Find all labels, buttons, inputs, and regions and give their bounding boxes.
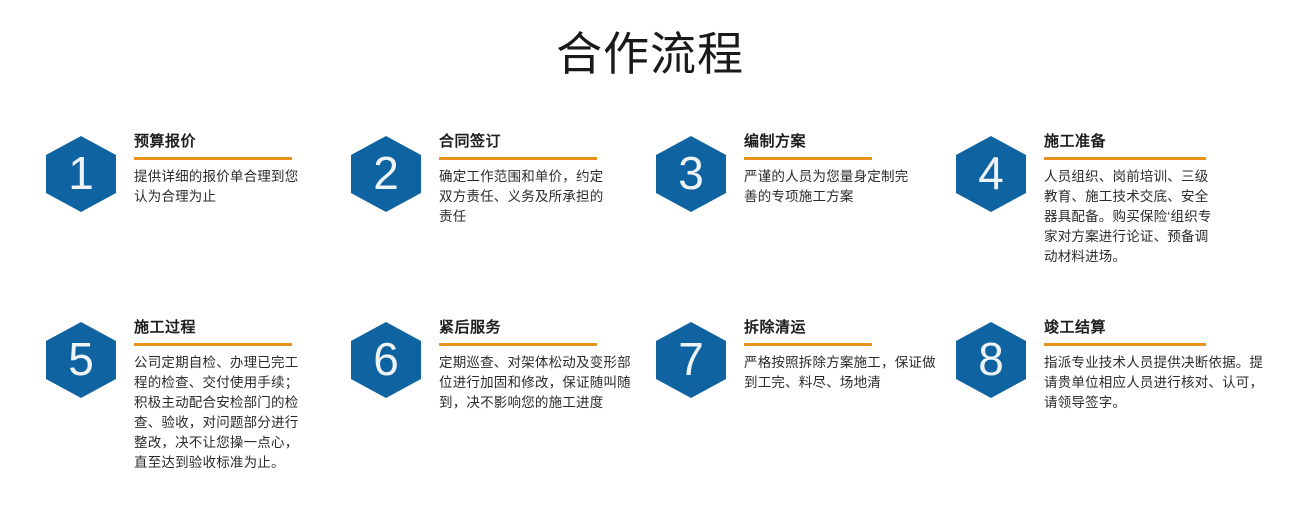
step-body: 确定工作范围和单价，约定双方责任、义务及所承担的责任 <box>439 167 611 227</box>
step-item-7: 7 拆除清运 严格按照拆除方案施工，保证做到工完、料尽、场地清 <box>656 316 956 473</box>
step-heading: 紧后服务 <box>439 318 656 338</box>
heading-underline <box>1044 343 1206 346</box>
heading-underline <box>1044 157 1206 160</box>
step-badge-7: 7 <box>656 322 726 398</box>
step-heading: 合同签订 <box>439 132 656 152</box>
step-number: 7 <box>656 322 726 398</box>
step-body: 指派专业技术人员提供决断依据。提请贵单位相应人员进行核对、认可，请领导签字。 <box>1044 353 1274 413</box>
step-body: 公司定期自检、办理已完工程的检查、交付使用手续；积极主动配合安检部门的检查、验收… <box>134 353 306 473</box>
step-number: 8 <box>956 322 1026 398</box>
step-text-4: 施工准备 人员组织、岗前培训、三级教育、施工技术交底、安全器具配备。购买保险‘组… <box>1026 130 1286 267</box>
step-badge-8: 8 <box>956 322 1026 398</box>
step-badge-6: 6 <box>351 322 421 398</box>
step-number: 4 <box>956 136 1026 212</box>
step-badge-5: 5 <box>46 322 116 398</box>
step-badge-3: 3 <box>656 136 726 212</box>
cooperation-process-infographic: 合作流程 1 预算报价 提供详细的报价单合理到您认为合理为止 2 合同签订 确定… <box>0 0 1300 532</box>
step-text-7: 拆除清运 严格按照拆除方案施工，保证做到工完、料尽、场地清 <box>726 316 956 393</box>
step-heading: 预算报价 <box>134 132 351 152</box>
heading-underline <box>744 343 872 346</box>
step-number: 2 <box>351 136 421 212</box>
step-badge-2: 2 <box>351 136 421 212</box>
step-text-5: 施工过程 公司定期自检、办理已完工程的检查、交付使用手续；积极主动配合安检部门的… <box>116 316 351 473</box>
step-text-3: 编制方案 严谨的人员为您量身定制完善的专项施工方案 <box>726 130 956 207</box>
step-number: 5 <box>46 322 116 398</box>
page-title: 合作流程 <box>0 26 1300 82</box>
heading-underline <box>134 157 292 160</box>
step-item-1: 1 预算报价 提供详细的报价单合理到您认为合理为止 <box>46 130 351 310</box>
step-item-6: 6 紧后服务 定期巡查、对架体松动及变形部位进行加固和修改，保证随叫随到，决不影… <box>351 316 656 473</box>
step-text-8: 竣工结算 指派专业技术人员提供决断依据。提请贵单位相应人员进行核对、认可，请领导… <box>1026 316 1286 413</box>
heading-underline <box>439 157 597 160</box>
step-text-1: 预算报价 提供详细的报价单合理到您认为合理为止 <box>116 130 351 207</box>
step-body: 严格按照拆除方案施工，保证做到工完、料尽、场地清 <box>744 353 944 393</box>
step-body: 定期巡查、对架体松动及变形部位进行加固和修改，保证随叫随到，决不影响您的施工进度 <box>439 353 639 413</box>
step-item-2: 2 合同签订 确定工作范围和单价，约定双方责任、义务及所承担的责任 <box>351 130 656 310</box>
step-body: 提供详细的报价单合理到您认为合理为止 <box>134 167 306 207</box>
step-heading: 拆除清运 <box>744 318 956 338</box>
step-badge-1: 1 <box>46 136 116 212</box>
step-text-6: 紧后服务 定期巡查、对架体松动及变形部位进行加固和修改，保证随叫随到，决不影响您… <box>421 316 656 413</box>
step-item-5: 5 施工过程 公司定期自检、办理已完工程的检查、交付使用手续；积极主动配合安检部… <box>46 316 351 473</box>
step-body: 人员组织、岗前培训、三级教育、施工技术交底、安全器具配备。购买保险‘组织专家对方… <box>1044 167 1222 267</box>
step-badge-4: 4 <box>956 136 1026 212</box>
step-item-8: 8 竣工结算 指派专业技术人员提供决断依据。提请贵单位相应人员进行核对、认可，请… <box>956 316 1286 473</box>
steps-grid: 1 预算报价 提供详细的报价单合理到您认为合理为止 2 合同签订 确定工作范围和… <box>0 130 1300 473</box>
step-heading: 施工过程 <box>134 318 351 338</box>
step-heading: 施工准备 <box>1044 132 1286 152</box>
step-heading: 竣工结算 <box>1044 318 1286 338</box>
step-heading: 编制方案 <box>744 132 956 152</box>
heading-underline <box>439 343 597 346</box>
step-item-3: 3 编制方案 严谨的人员为您量身定制完善的专项施工方案 <box>656 130 956 310</box>
heading-underline <box>744 157 872 160</box>
step-number: 3 <box>656 136 726 212</box>
step-item-4: 4 施工准备 人员组织、岗前培训、三级教育、施工技术交底、安全器具配备。购买保险… <box>956 130 1286 310</box>
step-number: 6 <box>351 322 421 398</box>
heading-underline <box>134 343 292 346</box>
step-number: 1 <box>46 136 116 212</box>
step-body: 严谨的人员为您量身定制完善的专项施工方案 <box>744 167 922 207</box>
step-text-2: 合同签订 确定工作范围和单价，约定双方责任、义务及所承担的责任 <box>421 130 656 227</box>
